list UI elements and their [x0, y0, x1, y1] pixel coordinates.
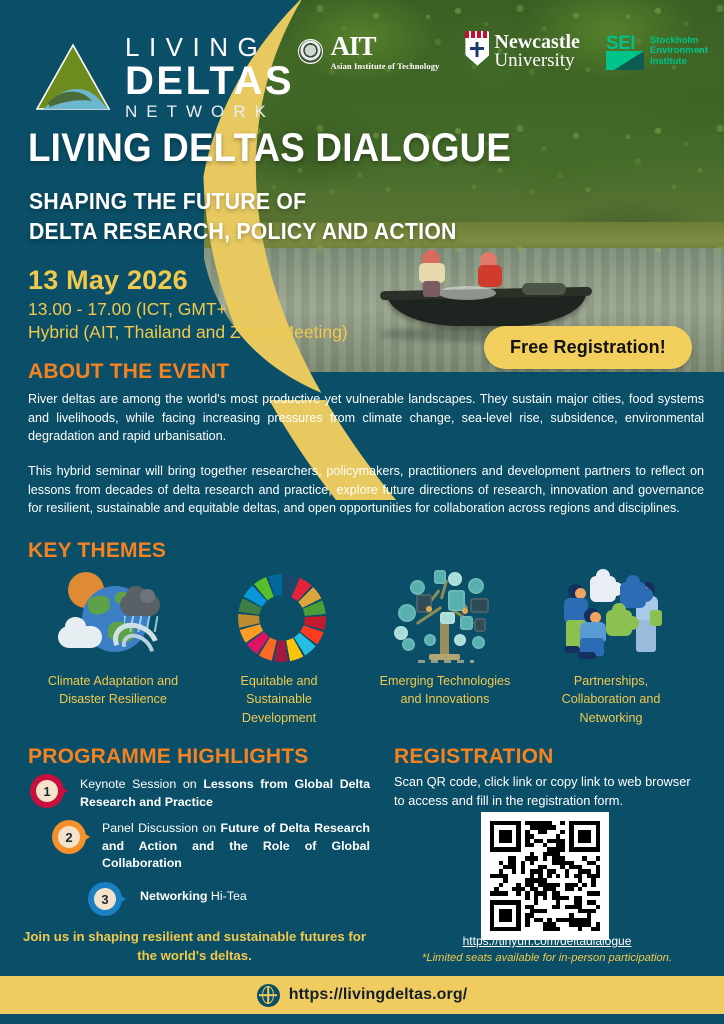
themes-list: Climate Adaptation and Disaster Resilien…	[30, 568, 694, 727]
programme-number-badge: 1	[30, 774, 70, 808]
sei-line3: Institute	[650, 57, 708, 68]
event-time: 13.00 - 17.00 (ICT, GMT+7)	[28, 299, 242, 320]
programme-item: 1 Keynote Session on Lessons from Global…	[30, 774, 370, 811]
themes-heading: KEY THEMES	[28, 539, 166, 563]
programme-list: 1 Keynote Session on Lessons from Global…	[30, 774, 370, 915]
theme-label: Equitable and Sustainable Development	[212, 672, 347, 727]
event-subtitle-line2: DELTA RESEARCH, POLICY AND ACTION	[29, 216, 457, 246]
fisher-person-two	[478, 252, 502, 296]
theme-label: Partnerships, Collaboration and Networki…	[544, 672, 679, 727]
event-subtitle-line1: SHAPING THE FUTURE OF	[29, 186, 457, 216]
programme-item: 2 Panel Discussion on Future of Delta Re…	[30, 820, 370, 873]
theme-climate: Climate Adaptation and Disaster Resilien…	[30, 568, 196, 727]
programme-number-badge: 2	[52, 820, 92, 854]
sdg-wheel-icon	[224, 568, 334, 666]
footer-bottom-strip	[0, 1014, 724, 1024]
free-registration-badge[interactable]: Free Registration!	[484, 326, 692, 369]
programme-number-badge: 3	[88, 882, 128, 916]
sei-logo-icon: SEI	[606, 34, 644, 70]
programme-text-bold: Networking	[140, 889, 211, 903]
theme-label: Emerging Technologies and Innovations	[378, 672, 513, 709]
partner-logo-newcastle: Newcastle University	[465, 33, 580, 70]
event-title: LIVING DELTAS DIALOGUE	[28, 128, 511, 168]
ait-subtitle: Asian Institute of Technology	[330, 62, 439, 71]
call-to-action: Join us in shaping resilient and sustain…	[22, 928, 367, 965]
programme-text: Panel Discussion on Future of Delta Rese…	[102, 820, 370, 873]
theme-label: Climate Adaptation and Disaster Resilien…	[46, 672, 181, 709]
newcastle-shield-icon	[465, 38, 489, 66]
registration-note: *Limited seats available for in-person p…	[394, 952, 700, 964]
poster-canvas: LIVING DELTAS NETWORK AIT Asian Institut…	[0, 0, 724, 1024]
ait-seal-icon	[298, 39, 323, 64]
partner-logo-ait: AIT Asian Institute of Technology	[298, 33, 439, 71]
event-subtitle: SHAPING THE FUTURE OF DELTA RESEARCH, PO…	[29, 186, 457, 247]
event-date: 13 May 2026	[28, 265, 188, 296]
globe-icon	[257, 984, 280, 1007]
about-heading: ABOUT THE EVENT	[28, 360, 229, 384]
event-format: Hybrid (AIT, Thailand and Zoom Meeting)	[28, 322, 348, 343]
logo-word-deltas: DELTAS	[125, 61, 294, 101]
puzzle-piece-white	[590, 576, 616, 602]
people-puzzle-icon	[556, 568, 666, 666]
programme-text-plain: Panel Discussion on	[102, 821, 221, 835]
registration-qr-code[interactable]	[481, 812, 609, 940]
programme-number: 3	[94, 888, 116, 910]
about-paragraph-1: River deltas are among the world's most …	[28, 390, 704, 446]
theme-technology: Emerging Technologies and Innovations	[362, 568, 528, 727]
programme-text-plain: Keynote Session on	[80, 777, 203, 791]
climate-globe-icon	[58, 568, 168, 666]
registration-heading: REGISTRATION	[394, 745, 554, 769]
registration-link[interactable]: https://tinyurl.com/deltadialogue	[394, 934, 700, 948]
footer-bar: https://livingdeltas.org/	[0, 976, 724, 1014]
technology-tree-icon	[390, 568, 500, 666]
programme-heading: PROGRAMME HIGHLIGHTS	[28, 745, 309, 769]
logo-wordmark: LIVING DELTAS NETWORK	[125, 34, 294, 120]
newcastle-crown-icon	[465, 31, 489, 39]
rain-cloud-icon	[120, 594, 160, 616]
newcastle-line2: University	[494, 52, 580, 70]
footer-url[interactable]: https://livingdeltas.org/	[289, 986, 468, 1004]
about-body: River deltas are among the world's most …	[28, 390, 704, 518]
registration-instructions: Scan QR code, click link or copy link to…	[394, 773, 700, 810]
delta-triangle-icon	[34, 41, 112, 113]
partner-logo-sei: SEI Stockholm Environment Institute	[606, 34, 708, 70]
theme-sustainable: Equitable and Sustainable Development	[196, 568, 362, 727]
programme-item: 3 Networking Hi-Tea	[30, 882, 370, 906]
boat-cargo	[522, 283, 566, 295]
theme-partnerships: Partnerships, Collaboration and Networki…	[528, 568, 694, 727]
programme-number: 1	[36, 780, 58, 802]
logo-word-network: NETWORK	[125, 103, 294, 120]
puzzle-piece-green	[606, 610, 632, 636]
programme-text: Keynote Session on Lessons from Global D…	[80, 774, 370, 811]
programme-text-plain: Hi-Tea	[211, 889, 247, 903]
cloud-icon	[58, 626, 102, 648]
about-paragraph-2: This hybrid seminar will bring together …	[28, 462, 704, 518]
living-deltas-logo: LIVING DELTAS NETWORK	[34, 34, 294, 120]
ait-abbr: AIT	[330, 33, 439, 60]
logo-word-living: LIVING	[125, 34, 294, 60]
partner-logos: AIT Asian Institute of Technology Newcas…	[298, 33, 708, 71]
programme-text: Networking Hi-Tea	[140, 882, 370, 906]
